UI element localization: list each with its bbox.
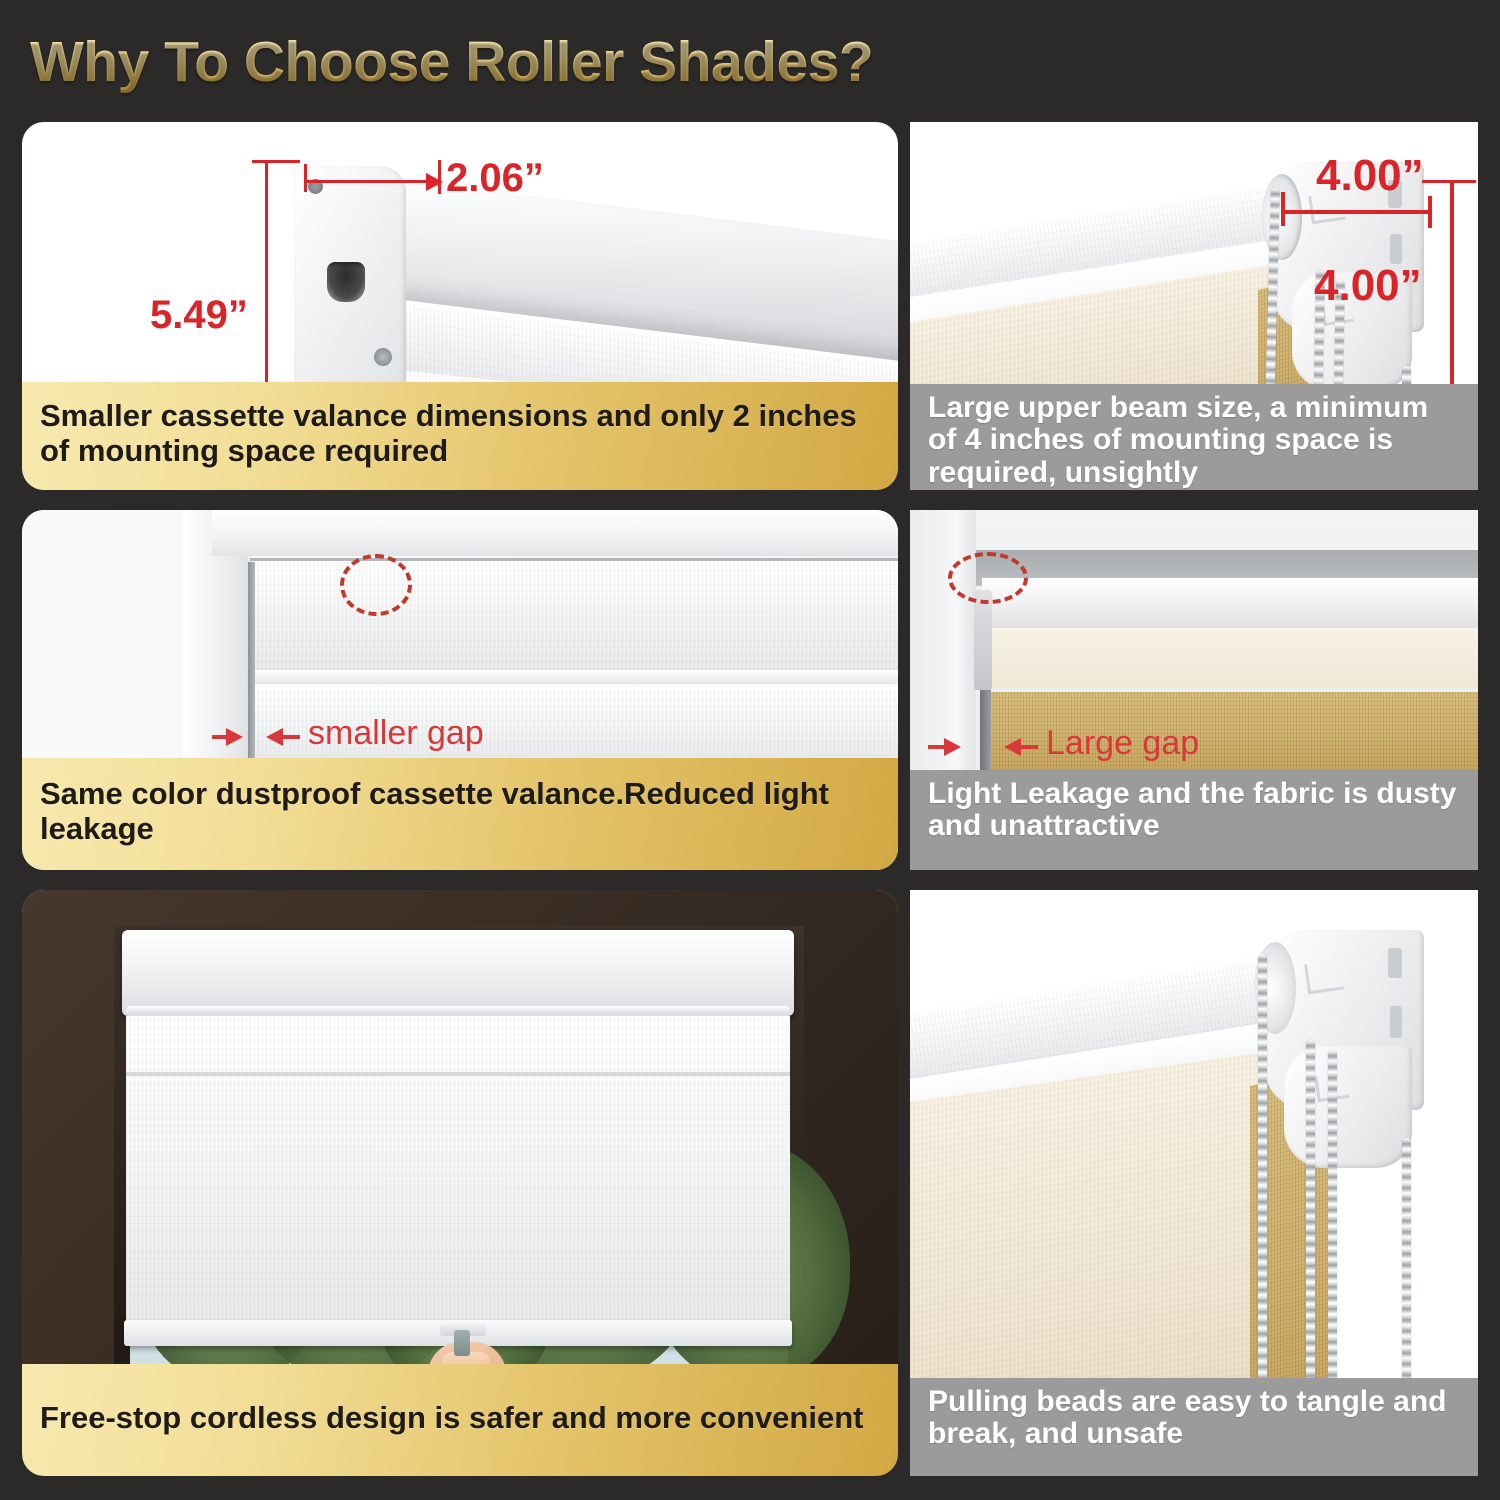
panel-caption-text: Smaller cassette valance dimensions and … (40, 399, 880, 468)
panel-caption-bar: Free-stop cordless design is safer and m… (22, 1364, 898, 1476)
shade-mid-seam (126, 1072, 790, 1076)
title-bar: Why To Choose Roller Shades? (30, 18, 1470, 106)
panel-caption-bar: Smaller cassette valance dimensions and … (22, 382, 898, 490)
panel-smaller-cassette: 2.06” 5.49” Smaller cassette valance dim… (22, 122, 898, 490)
panel-light-leakage: Large gap Light Leakage and the fabric i… (910, 510, 1478, 870)
gap-arrow-left-icon (266, 728, 283, 746)
panel-large-upper-beam: 4.00” 4.00” Large upper beam size, a min… (910, 122, 1478, 490)
bracket-height-tick-top (1422, 180, 1476, 183)
width-dim-tick-right (438, 160, 441, 194)
fabric-cream-band (984, 628, 1478, 688)
bracket-slot-icon-upper (1388, 948, 1402, 978)
bracket-height-dim-label: 4.00” (1314, 264, 1422, 308)
panel-caption-text: Free-stop cordless design is safer and m… (40, 1401, 863, 1436)
roller-bracket-lower-lobe (1284, 1046, 1412, 1168)
large-gap-edge-dark (980, 688, 991, 770)
bracket-arrow-emboss-icon (1304, 960, 1344, 995)
panel-caption-bar: Pulling beads are easy to tangle and bre… (910, 1378, 1478, 1476)
highlight-circle-icon (340, 554, 412, 616)
width-dimension-line (304, 180, 436, 183)
gap-arrow-stem-right (1020, 745, 1038, 749)
end-cap-screw-icon (374, 348, 392, 366)
gap-edge-dark (248, 562, 255, 770)
page-title: Why To Choose Roller Shades? (30, 29, 873, 95)
panel-caption-text: Light Leakage and the fabric is dusty an… (928, 778, 1460, 843)
cassette-valance-lip (250, 670, 898, 684)
bracket-slot-icon-lower (1390, 234, 1402, 264)
bracket-width-dim-label: 4.00” (1316, 154, 1424, 198)
bracket-hook-left (974, 590, 992, 690)
bracket-width-tick-left (1281, 192, 1285, 226)
panel-dustproof-cassette: smaller gap Same color dustproof cassett… (22, 510, 898, 870)
large-gap-label: Large gap (1046, 726, 1199, 760)
gap-arrow-stem-right (282, 735, 300, 739)
bracket-width-dim-line (1282, 210, 1432, 214)
bracket-width-tick-right (1428, 196, 1432, 228)
panel-caption-bar: Large upper beam size, a minimum of 4 in… (910, 384, 1478, 490)
gap-arrow-stem-left (928, 745, 948, 749)
width-dim-tick-left (304, 164, 307, 192)
width-dimension-label: 2.06” (446, 158, 544, 198)
height-dimension-label: 5.49” (150, 295, 248, 335)
window-casing-top (212, 510, 898, 556)
panel-caption-text: Large upper beam size, a minimum of 4 in… (928, 392, 1460, 489)
smaller-gap-label: smaller gap (308, 716, 484, 750)
panel-caption-bar: Light Leakage and the fabric is dusty an… (910, 770, 1478, 870)
bracket-height-dim-line (1450, 180, 1454, 392)
panel-pulling-beads: Pulling beads are easy to tangle and bre… (910, 890, 1478, 1476)
roller-tube-white (982, 578, 1478, 632)
rail-tab-held (454, 1330, 470, 1356)
gap-arrow-left-icon (1004, 738, 1021, 756)
bracket-slot-icon-lower (1390, 1006, 1402, 1038)
panel-cordless-design: Free-stop cordless design is safer and m… (22, 890, 898, 1476)
panel-caption-bar: Same color dustproof cassette valance.Re… (22, 758, 898, 870)
end-cap-slot-icon (327, 262, 365, 302)
panel-caption-text: Same color dustproof cassette valance.Re… (40, 777, 880, 846)
roller-shade-fabric-scene (126, 1016, 790, 1336)
height-dim-tick-top (252, 160, 300, 163)
gap-arrow-stem-left (212, 735, 230, 739)
highlight-circle-icon (948, 552, 1028, 604)
cassette-valance-scene (122, 930, 794, 1016)
valance-seam-line (126, 1006, 790, 1014)
panel-caption-text: Pulling beads are easy to tangle and bre… (928, 1386, 1460, 1451)
